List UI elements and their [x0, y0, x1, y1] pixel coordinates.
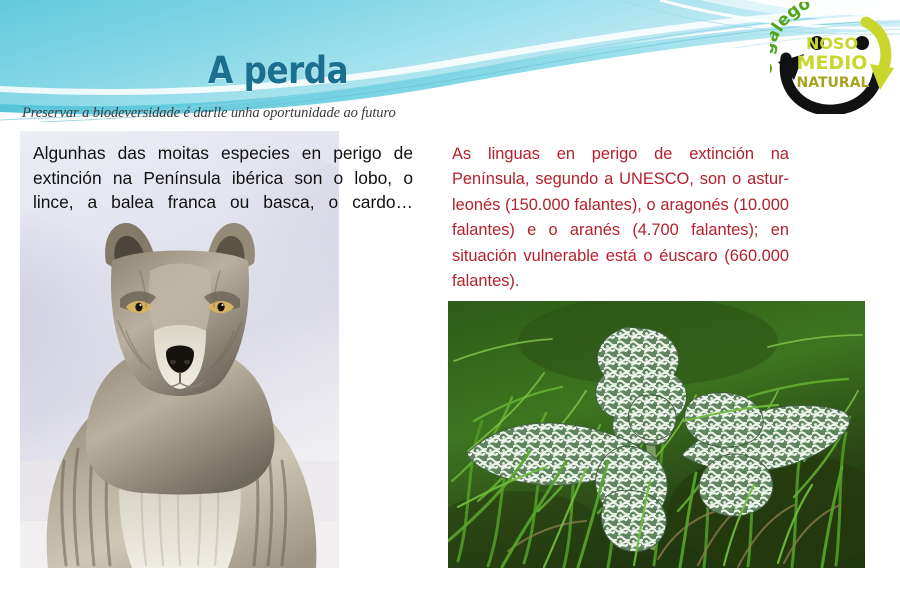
left-body-text: Algunhas das moitas especies en perigo d…	[33, 141, 413, 239]
page-subtitle: Preservar a biodeversidade é darlle unha…	[22, 105, 396, 122]
logo-line-noso: NOSO	[806, 34, 858, 53]
logo-line-medio: MEDIO	[797, 52, 868, 74]
banner-graphic	[0, 0, 900, 122]
logo-noso-medio-natural: O galego NOSO MEDIO NATURAL	[770, 2, 896, 114]
logo-line-natural: NATURAL	[797, 75, 870, 91]
logo-graphic: O galego NOSO MEDIO NATURAL	[770, 2, 896, 114]
right-body-text: As linguas en perigo de extinción na Pen…	[452, 142, 789, 320]
page-title: A perda	[208, 52, 348, 89]
thistle-photo	[448, 301, 865, 568]
header-banner	[0, 0, 900, 122]
thistle-illustration	[448, 301, 865, 568]
